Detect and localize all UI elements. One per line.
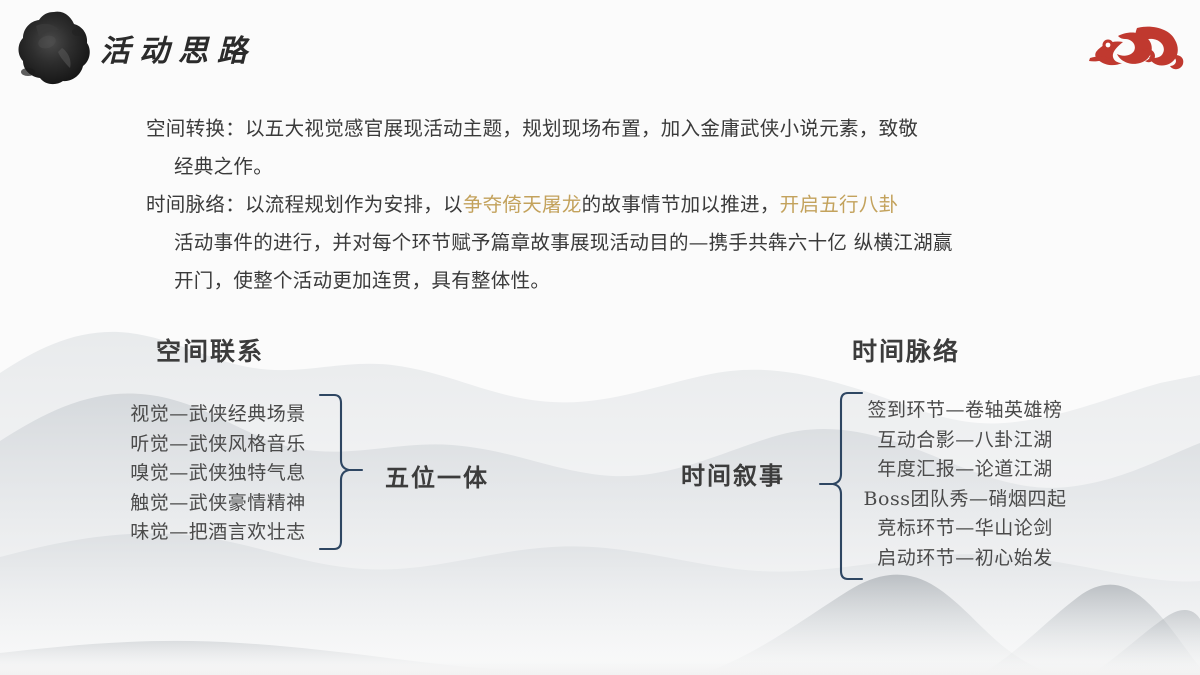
bottom-fade <box>0 661 1200 675</box>
intro-line-1: 空间转换：以五大视觉感官展现活动主题，规划现场布置，加入金庸武侠小说元素，致敬 <box>146 110 1058 148</box>
list-item: Boss团队秀—硝烟四起 <box>858 485 1072 515</box>
auspicious-cloud-icon <box>1082 20 1186 76</box>
space-section-heading: 空间联系 <box>156 332 264 368</box>
list-item: 互动合影—八卦江湖 <box>858 426 1072 456</box>
list-item: 触觉—武侠豪情精神 <box>118 489 318 519</box>
list-item: 竞标环节—华山论剑 <box>858 514 1072 544</box>
list-item: 签到环节—卷轴英雄榜 <box>858 396 1072 426</box>
list-item: 听觉—武侠风格音乐 <box>118 430 318 460</box>
slide-header: 活动思路 <box>0 0 1200 100</box>
slide-canvas: 活动思路 空间转换：以五大视觉感官展现活动主题，规划现场布置，加入金庸武侠小说元… <box>0 0 1200 675</box>
page-title: 活动思路 <box>100 26 256 70</box>
intro-line-2: 经典之作。 <box>146 148 1058 186</box>
time-item-list: 签到环节—卷轴英雄榜 互动合影—八卦江湖 年度汇报—论道江湖 Boss团队秀—硝… <box>858 396 1072 573</box>
list-item: 启动环节—初心始发 <box>858 544 1072 574</box>
intro-line-3-a: 时间脉络：以流程规划作为安排，以 <box>146 193 463 216</box>
intro-line-4: 活动事件的进行，并对每个环节赋予篇章故事展现活动目的—携手共犇六十亿 纵横江湖赢 <box>146 224 1058 262</box>
list-item: 嗅觉—武侠独特气息 <box>118 459 318 489</box>
intro-line-5: 开门，使整个活动更加连贯，具有整体性。 <box>146 262 1058 300</box>
time-section-heading: 时间脉络 <box>852 332 960 368</box>
intro-line-3-b: 的故事情节加以推进， <box>582 193 780 216</box>
space-center-label: 五位一体 <box>385 458 489 493</box>
list-item: 年度汇报—论道江湖 <box>858 455 1072 485</box>
ink-blot-icon <box>14 8 94 88</box>
intro-line-3: 时间脉络：以流程规划作为安排，以争夺倚天屠龙的故事情节加以推进，开启五行八卦 <box>146 186 1058 224</box>
list-item: 味觉—把酒言欢壮志 <box>118 518 318 548</box>
intro-gold-phrase-1: 争夺倚天屠龙 <box>463 193 582 216</box>
time-center-label: 时间叙事 <box>681 456 785 491</box>
space-item-list: 视觉—武侠经典场景 听觉—武侠风格音乐 嗅觉—武侠独特气息 触觉—武侠豪情精神 … <box>118 400 318 548</box>
left-curly-brace-icon <box>318 392 364 552</box>
list-item: 视觉—武侠经典场景 <box>118 400 318 430</box>
intro-paragraph: 空间转换：以五大视觉感官展现活动主题，规划现场布置，加入金庸武侠小说元素，致敬 … <box>146 110 1058 300</box>
intro-gold-phrase-2: 开启五行八卦 <box>780 193 899 216</box>
